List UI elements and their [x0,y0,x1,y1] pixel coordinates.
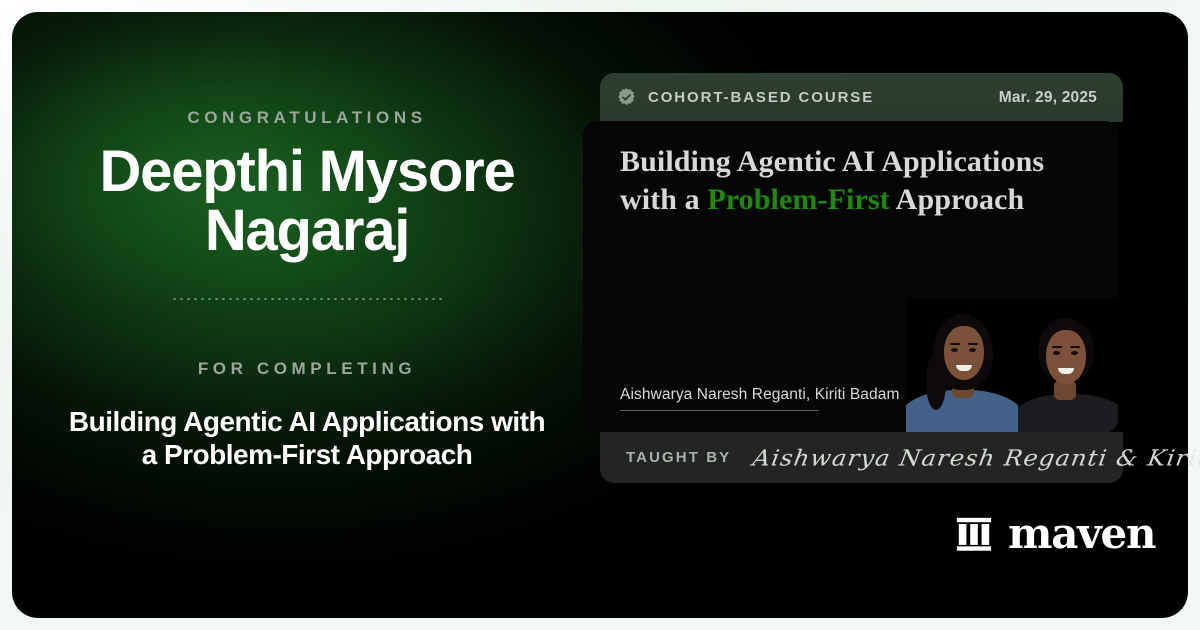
course-date: Mar. 29, 2025 [999,89,1097,107]
course-card-footer: TAUGHT BY Aishwarya Naresh Reganti & Kir… [600,432,1123,483]
instructor-photo-aishwarya [906,298,1018,433]
certificate-canvas: CONGRATULATIONS Deepthi Mysore Nagaraj F… [0,0,1200,630]
congratulations-label: CONGRATULATIONS [187,108,426,128]
maven-logo[interactable]: maven [955,515,1155,553]
course-title-highlight: Problem-First [707,183,889,216]
course-card-title: Building Agentic AI Applications with a … [620,143,1060,219]
for-completing-label: FOR COMPLETING [198,359,416,379]
verified-check-icon [616,87,637,108]
maven-wordmark: maven [1008,515,1155,553]
course-authors: Aishwarya Naresh Reganti, Kiriti Badam [620,386,950,404]
completed-course-title: Building Agentic AI Applications with a … [62,405,552,471]
maven-pillar-icon [955,515,993,553]
dotted-divider [171,298,443,300]
taught-by-label: TAUGHT BY [626,449,731,466]
course-card[interactable]: COHORT-BASED COURSE Mar. 29, 2025 Buildi… [600,73,1123,483]
course-card-body: Building Agentic AI Applications with a … [583,121,1118,433]
instructor-photo-kiriti [1018,298,1118,433]
instructor-photos [906,298,1118,433]
authors-underline [620,410,819,411]
course-title-part2: Approach [890,183,1025,216]
instructor-signature: Aishwarya Naresh Reganti & Kiriti Badam [751,445,1200,471]
certificate-left-column: CONGRATULATIONS Deepthi Mysore Nagaraj F… [12,12,602,618]
recipient-name: Deepthi Mysore Nagaraj [92,142,522,260]
cohort-based-course-label: COHORT-BASED COURSE [648,89,874,106]
course-card-header: COHORT-BASED COURSE Mar. 29, 2025 [600,73,1123,122]
